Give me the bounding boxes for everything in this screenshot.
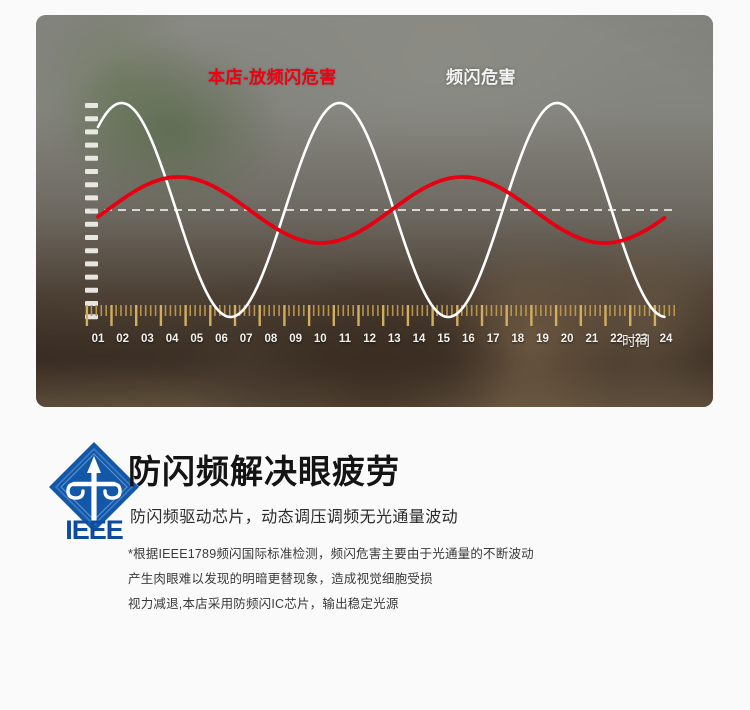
x-axis-tick-label: 15 bbox=[432, 333, 456, 345]
x-axis-tick-label: 16 bbox=[456, 333, 480, 345]
x-axis-tick-label: 11 bbox=[333, 333, 357, 345]
x-axis-tick-label: 08 bbox=[259, 333, 283, 345]
x-axis-tick-labels: 0102030405060708091011121314151617181920… bbox=[36, 333, 713, 353]
x-axis-ruler-ticks bbox=[86, 305, 675, 326]
body-text-line: 视力减退,本店采用防频闪IC芯片，输出稳定光源 bbox=[128, 592, 688, 617]
x-axis-tick-label: 19 bbox=[531, 333, 555, 345]
x-axis-tick-label: 12 bbox=[358, 333, 382, 345]
section-body-text: *根据IEEE1789频闪国际标准检测，频闪危害主要由于光通量的不断波动产生肉眼… bbox=[128, 542, 688, 617]
x-axis-tick-label: 05 bbox=[185, 333, 209, 345]
body-text-line: *根据IEEE1789频闪国际标准检测，频闪危害主要由于光通量的不断波动 bbox=[128, 542, 688, 567]
x-axis-tick-label: 20 bbox=[555, 333, 579, 345]
flicker-comparison-chart-card: 本店-放频闪危害 频闪危害 01020304050607080910111213… bbox=[36, 15, 713, 407]
x-axis-tick-label: 18 bbox=[506, 333, 530, 345]
x-axis-tick-label: 01 bbox=[86, 333, 110, 345]
x-axis-title: 时间 bbox=[622, 331, 650, 351]
x-axis-tick-label: 09 bbox=[284, 333, 308, 345]
y-axis-ruler-ticks bbox=[85, 103, 98, 319]
x-axis-tick-label: 13 bbox=[382, 333, 406, 345]
section-subheadline: 防闪频驱动芯片，动态调压调频无光通量波动 bbox=[130, 503, 458, 527]
x-axis-tick-label: 14 bbox=[407, 333, 431, 345]
x-axis-tick-label: 06 bbox=[210, 333, 234, 345]
x-axis-tick-label: 21 bbox=[580, 333, 604, 345]
product-info-section: IEEE 防闪频解决眼疲劳 防闪频驱动芯片，动态调压调频无光通量波动 *根据IE… bbox=[0, 425, 750, 655]
x-axis-tick-label: 04 bbox=[160, 333, 184, 345]
x-axis-tick-label: 07 bbox=[234, 333, 258, 345]
x-axis-tick-label: 02 bbox=[111, 333, 135, 345]
body-text-line: 产生肉眼难以发现的明暗更替现象，造成视觉细胞受损 bbox=[128, 567, 688, 592]
section-headline: 防闪频解决眼疲劳 bbox=[128, 445, 400, 493]
x-axis-tick-label: 03 bbox=[135, 333, 159, 345]
x-axis-tick-label: 17 bbox=[481, 333, 505, 345]
x-axis-tick-label: 24 bbox=[654, 333, 678, 345]
product-detail-page: 本店-放频闪危害 频闪危害 01020304050607080910111213… bbox=[0, 0, 750, 710]
x-axis-tick-label: 10 bbox=[308, 333, 332, 345]
white-flicker-waveform bbox=[98, 103, 664, 317]
